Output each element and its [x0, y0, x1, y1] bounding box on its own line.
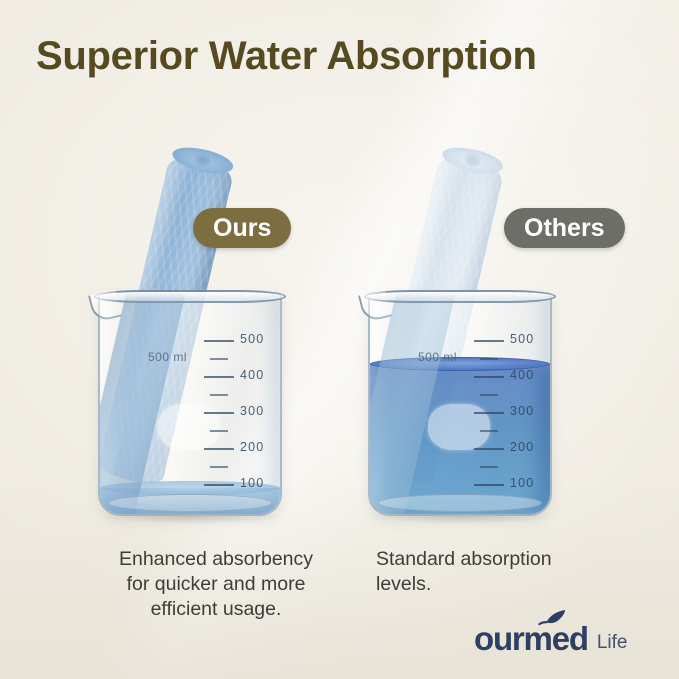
- brand-name: ourmed: [474, 622, 588, 655]
- tick-label-100: 100: [240, 476, 264, 490]
- tick-label-200: 200: [510, 440, 534, 454]
- page-title: Superior Water Absorption: [36, 34, 646, 79]
- beaker-rim: [364, 290, 556, 303]
- leaf-icon: [538, 609, 568, 631]
- beaker-base: [378, 494, 542, 512]
- tick-label-200: 200: [240, 440, 264, 454]
- beaker-scale-others: 500 400 300 200 100: [474, 340, 552, 500]
- tick-label-400: 400: [240, 368, 264, 382]
- tick-label-300: 300: [510, 404, 534, 418]
- tick-label-500: 500: [510, 332, 534, 346]
- brand-suffix: Life: [597, 633, 628, 652]
- badge-others[interactable]: Others: [504, 208, 625, 248]
- caption-ours: Enhanced absorbency for quicker and more…: [86, 547, 346, 622]
- beaker-volume-label: 500 ml: [148, 350, 187, 364]
- tick-label-100: 100: [510, 476, 534, 490]
- brand-logo[interactable]: ourmed Life: [474, 622, 627, 655]
- beaker-others: 500 ml 500 400 300 200 100: [364, 284, 556, 516]
- beaker-glass: 500 ml 500 400 300 200 100: [368, 292, 552, 516]
- beaker-base: [108, 494, 272, 512]
- beaker-rim: [94, 290, 286, 303]
- beaker-ours: 500 ml 500 400 300 200 100: [94, 284, 286, 516]
- beaker-scale-ours: 500 400 300 200 100: [204, 340, 282, 500]
- tick-label-400: 400: [510, 368, 534, 382]
- caption-others: Standard absorption levels.: [376, 547, 626, 597]
- infographic-canvas: Superior Water Absorption 500 ml 500 400: [0, 0, 679, 679]
- tick-label-300: 300: [240, 404, 264, 418]
- tick-label-500: 500: [240, 332, 264, 346]
- beaker-glass: 500 ml 500 400 300 200 100: [98, 292, 282, 516]
- badge-ours[interactable]: Ours: [193, 208, 291, 248]
- beaker-volume-label: 500 ml: [418, 350, 457, 364]
